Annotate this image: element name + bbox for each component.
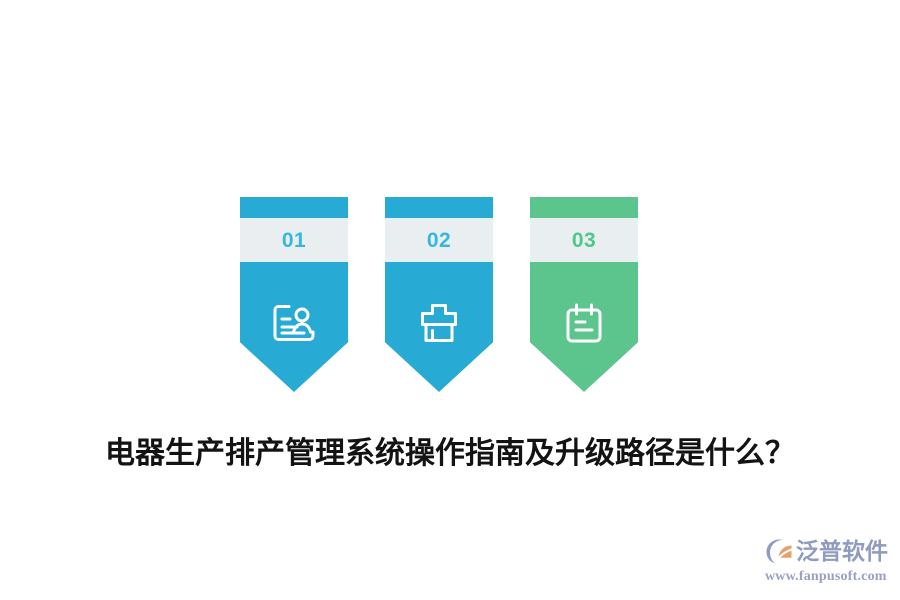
page-title: 电器生产排产管理系统操作指南及升级路径是什么？	[0, 428, 900, 472]
logo-brand-name: 泛普软件	[796, 540, 888, 563]
banner-number: 03	[572, 230, 596, 251]
banner-step-02[interactable]: 02	[385, 197, 493, 392]
banner-number-band: 03	[530, 218, 638, 262]
banner-number: 02	[427, 230, 451, 251]
fanpu-swoosh-icon	[764, 536, 794, 566]
logo-website-url: www.fanpusoft.com	[765, 569, 896, 585]
banner-step-01[interactable]: 01	[240, 197, 348, 392]
banner-number-band: 01	[240, 218, 348, 262]
banner-number-band: 02	[385, 218, 493, 262]
infographic-canvas: 01 02	[0, 0, 900, 600]
banner-number: 01	[282, 230, 306, 251]
banner-group: 01 02	[240, 197, 660, 392]
notepad-calendar-icon	[530, 293, 638, 353]
banner-step-03[interactable]: 03	[530, 197, 638, 392]
logo-row: 泛普软件	[764, 534, 896, 568]
factory-building-icon	[385, 293, 493, 353]
brand-watermark[interactable]: 泛普软件 www.fanpusoft.com	[764, 534, 896, 590]
id-card-person-icon	[240, 293, 348, 353]
